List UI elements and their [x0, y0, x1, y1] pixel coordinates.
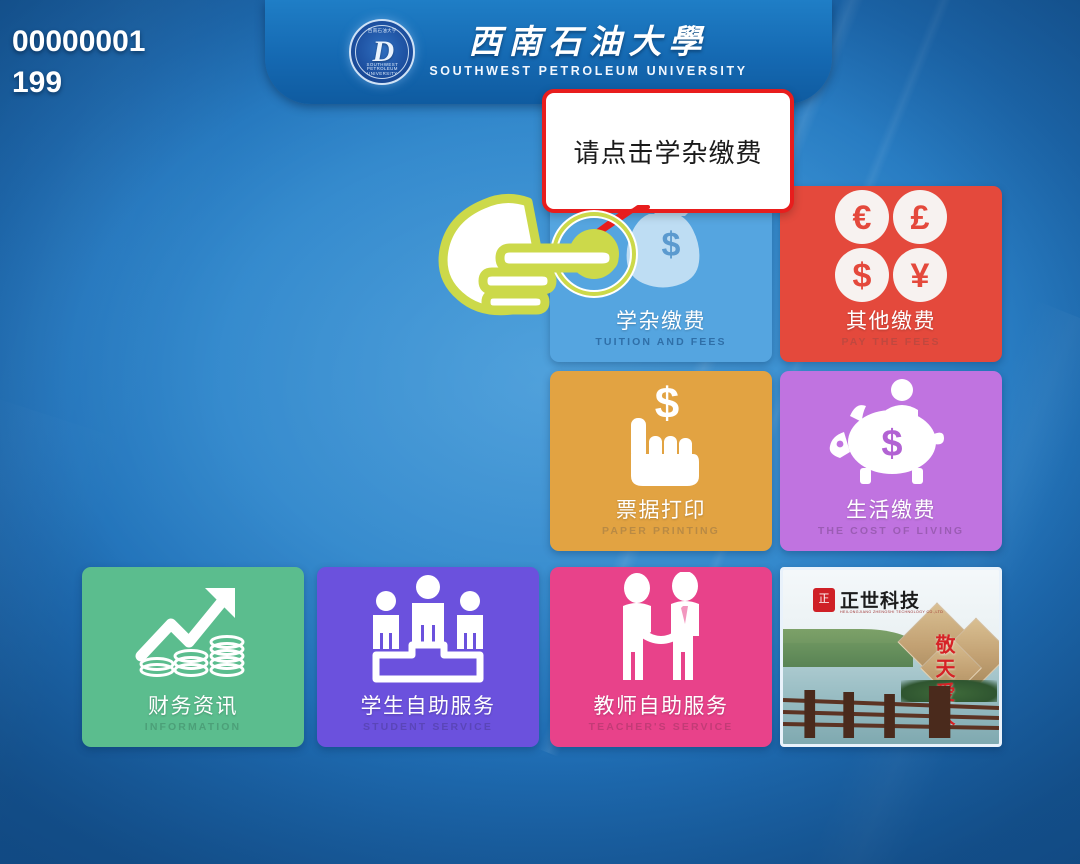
tile-student-service[interactable]: 学生自助服务 STUDENT SERVICE: [317, 567, 539, 747]
tile-label-cn: 票据打印: [616, 499, 706, 522]
tile-label-en: INFORMATION: [145, 721, 241, 733]
pointing-hand-icon: [432, 186, 622, 326]
ticket-queue-number: 199: [12, 63, 145, 104]
university-name-cn: 西南石油大學: [468, 26, 708, 61]
svg-text:£: £: [911, 199, 930, 237]
tile-label-en: TEACHER'S SERVICE: [589, 721, 734, 733]
svg-text:¥: ¥: [911, 257, 930, 295]
tile-label-en: TUITION AND FEES: [595, 336, 726, 348]
tile-teacher-service[interactable]: 教师自助服务 TEACHER'S SERVICE: [550, 567, 772, 747]
tile-label-cn: 财务资讯: [148, 695, 238, 718]
brand-block: 西南石油大學 SOUTHWEST PETROLEUM UNIVERSITY: [429, 26, 747, 78]
piggy-bank-icon: $: [780, 371, 1002, 497]
currency-coins-icon: € £ $ ¥: [780, 186, 1002, 308]
hand-dollar-icon: $: [550, 371, 772, 497]
svg-text:€: €: [853, 199, 872, 237]
tile-label-cn: 学生自助服务: [361, 695, 496, 718]
svg-text:$: $: [662, 226, 681, 264]
handshake-icon: [550, 567, 772, 693]
svg-text:$: $: [881, 423, 902, 465]
tile-label-cn: 学杂缴费: [616, 310, 706, 333]
seal-ring-bottom-text: SOUTHWEST PETROLEUM UNIVERSITY: [351, 63, 413, 76]
ad-brand-name: 正世科技: [840, 586, 920, 613]
university-name-en: SOUTHWEST PETROLEUM UNIVERSITY: [429, 64, 747, 78]
podium-people-icon: [317, 567, 539, 693]
tile-label-en: STUDENT SERVICE: [363, 721, 493, 733]
ticket-serial: 00000001: [12, 22, 145, 63]
ad-railing-icon: [783, 684, 999, 738]
tile-label-cn: 其他缴费: [846, 310, 936, 333]
tile-advertisement[interactable]: 敬天爱人 正 正世科技 HEILONGJIANG ZHENGSHI TECHNO…: [780, 567, 1002, 747]
ad-seal-icon: 正: [813, 588, 835, 612]
tile-label-cn: 教师自助服务: [594, 695, 729, 718]
growth-chart-coins-icon: [82, 567, 304, 693]
tile-cost-of-living[interactable]: $ 生活缴费 THE COST OF LIVING: [780, 371, 1002, 551]
instruction-text: 请点击学杂缴费: [573, 133, 762, 170]
ad-logo: 正 正世科技: [813, 586, 920, 613]
ad-brand-subtitle: HEILONGJIANG ZHENGSHI TECHNOLOGY CO.,LTD: [840, 610, 943, 614]
queue-ticket-display: 00000001 199: [12, 22, 145, 104]
tile-financial-information[interactable]: 财务资讯 INFORMATION: [82, 567, 304, 747]
tile-label-cn: 生活缴费: [846, 499, 936, 522]
university-seal-icon: 西南石油大学 D SOUTHWEST PETROLEUM UNIVERSITY: [349, 19, 415, 85]
svg-text:$: $: [655, 379, 679, 428]
tile-label-en: PAPER PRINTING: [602, 525, 720, 537]
ad-forest-background: [783, 629, 913, 667]
tile-paper-printing[interactable]: $ 票据打印 PAPER PRINTING: [550, 371, 772, 551]
svg-text:$: $: [853, 257, 872, 295]
tile-label-en: PAY THE FEES: [841, 336, 940, 348]
tile-other-fees[interactable]: € £ $ ¥ 其他缴费 PAY THE FEES: [780, 186, 1002, 362]
tile-label-en: THE COST OF LIVING: [818, 525, 964, 537]
